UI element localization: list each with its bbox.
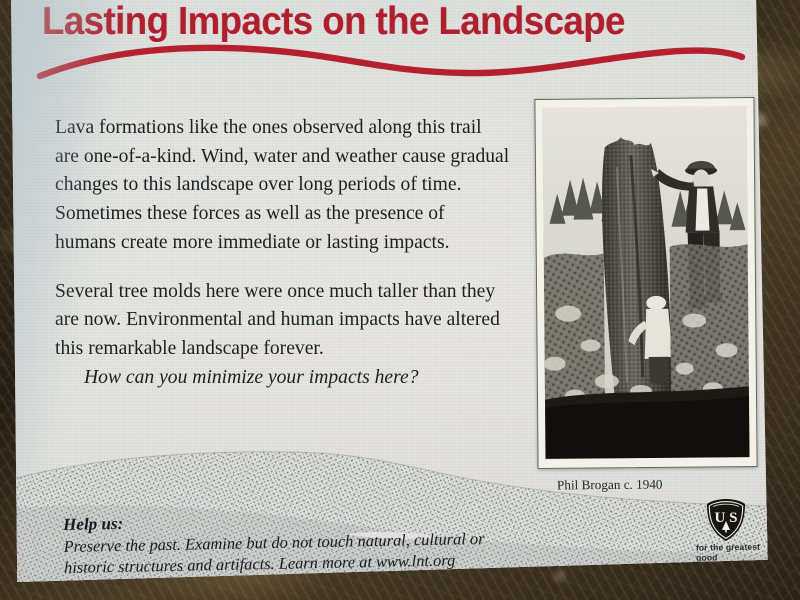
interpretive-sign-panel: Lasting Impacts on the Landscape Lava fo… (8, 0, 780, 582)
body-paragraph-1: Lava formations like the ones observed a… (55, 114, 510, 258)
photo-of-interpretive-sign: Lasting Impacts on the Landscape Lava fo… (0, 0, 800, 600)
reflection-question: How can you minimize your impacts here? (84, 367, 514, 389)
sign-title: Lasting Impacts on the Landscape (42, 0, 700, 44)
sign-body-copy: Lava formations like the ones observed a… (55, 114, 510, 364)
historic-photo-frame (534, 97, 757, 469)
usfs-shield-icon: U S (705, 498, 747, 542)
help-us-heading: Help us: (63, 514, 123, 534)
historic-photo (542, 106, 749, 459)
help-us-block: Help us: Preserve the past. Examine but … (63, 505, 544, 579)
wavy-rule-divider (36, 42, 746, 84)
body-paragraph-2: Several tree molds here were once much t… (55, 278, 510, 364)
photo-caption: Phil Brogan c. 1940 (557, 477, 663, 494)
